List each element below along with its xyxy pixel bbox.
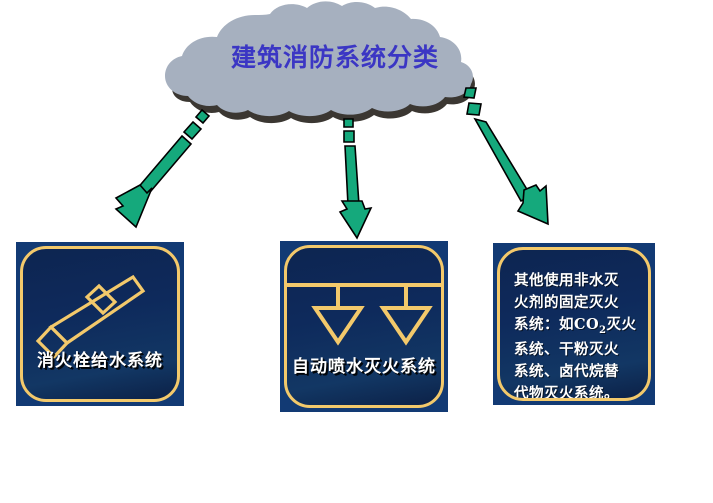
arrow-to-sprinkler-system-icon — [340, 119, 371, 238]
arrow-to-hydrant-system-icon — [116, 110, 209, 227]
slide-canvas: 建筑消防系统分类 — [0, 0, 713, 503]
arrows-layer — [0, 0, 713, 503]
cloud-title: 建筑消防系统分类 — [205, 38, 465, 74]
arrow-to-other-systems-icon — [464, 88, 548, 224]
